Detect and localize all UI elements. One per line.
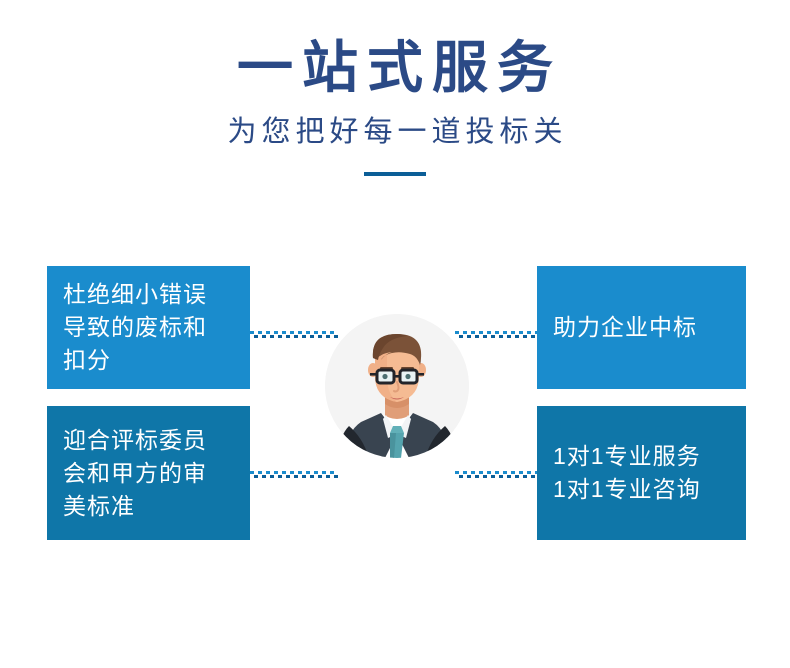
page-subtitle: 为您把好每一道投标关 [0,100,790,150]
feature-card-bottom-right[interactable]: 1对1专业服务 1对1专业咨询 [537,406,746,540]
title-underline-accent [364,172,426,176]
feature-card-line: 导致的废标和 [63,311,234,344]
feature-card-line: 美标准 [63,490,234,523]
feature-card-top-right[interactable]: 助力企业中标 [537,266,746,389]
feature-card-line: 杜绝细小错误 [63,278,234,311]
feature-card-top-left[interactable]: 杜绝细小错误 导致的废标和 扣分 [47,266,250,389]
page-title: 一站式服务 [0,0,790,100]
dashed-connector-bottom-right [455,470,537,479]
feature-card-line: 1对1专业咨询 [553,473,730,506]
dashed-connector-bottom-left [250,470,338,479]
header: 一站式服务 为您把好每一道投标关 [0,0,790,176]
avatar [325,314,469,458]
feature-card-bottom-left[interactable]: 迎合评标委员 会和甲方的审 美标准 [47,406,250,540]
feature-card-line: 会和甲方的审 [63,457,234,490]
feature-card-line: 1对1专业服务 [553,440,730,473]
dashed-connector-top-right [455,330,537,339]
promo-banner: 一站式服务 为您把好每一道投标关 杜绝细小错误 导致的废标和 扣分 迎合评标委员… [0,0,790,668]
dashed-connector-top-left [250,330,338,339]
feature-card-line: 助力企业中标 [553,311,730,344]
feature-card-line: 迎合评标委员 [63,424,234,457]
feature-card-line: 扣分 [63,344,234,377]
feature-stage: 杜绝细小错误 导致的废标和 扣分 迎合评标委员 会和甲方的审 美标准 助力企业中… [0,246,790,566]
